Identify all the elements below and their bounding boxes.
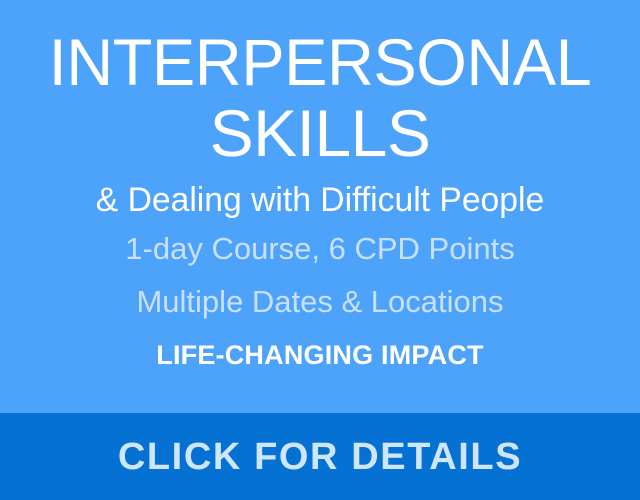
detail-dates-locations: Multiple Dates & Locations [16,283,624,321]
tagline: LIFE-CHANGING IMPACT [16,339,624,371]
headline-line-1: INTERPERSONAL [21,27,620,97]
headline-line-2: SKILLS [16,98,624,168]
promo-content: INTERPERSONAL SKILLS & Dealing with Diff… [0,0,640,413]
subtitle: & Dealing with Difficult People [19,180,621,220]
cta-button-label: CLICK FOR DETAILS [118,435,522,479]
advertisement-banner[interactable]: INTERPERSONAL SKILLS & Dealing with Diff… [0,0,640,500]
cta-button[interactable]: CLICK FOR DETAILS [0,413,640,500]
detail-course-info: 1-day Course, 6 CPD Points [16,230,624,268]
